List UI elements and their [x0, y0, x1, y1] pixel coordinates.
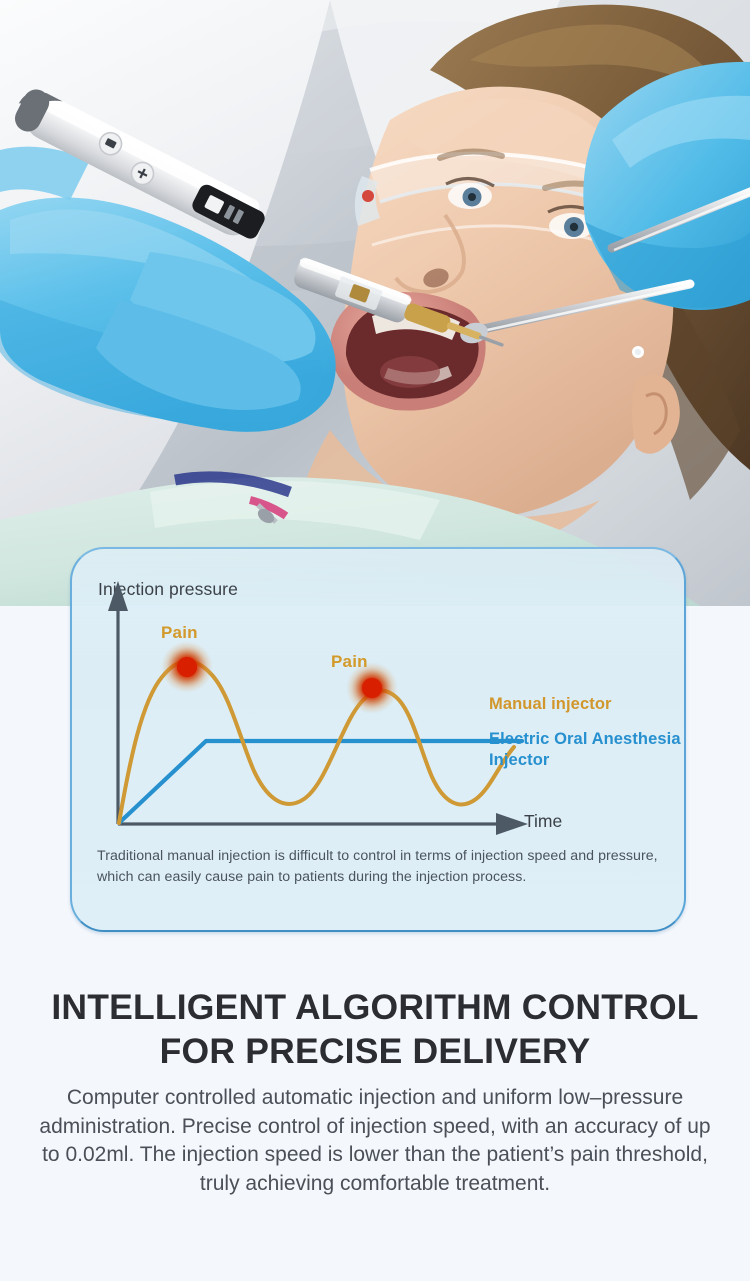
- chart-caption: Traditional manual injection is difficul…: [97, 846, 669, 887]
- pain-annotation-1: Pain: [161, 623, 198, 643]
- chart-x-axis-label: Time: [524, 811, 562, 832]
- pain-annotation-2: Pain: [331, 652, 368, 672]
- bottom-text-section: INTELLIGENT ALGORITHM CONTROL FOR PRECIS…: [0, 985, 750, 1198]
- page-headline: INTELLIGENT ALGORITHM CONTROL FOR PRECIS…: [0, 985, 750, 1073]
- page-subcopy: Computer controlled automatic injection …: [0, 1084, 750, 1198]
- legend-manual-injector: Manual injector: [489, 695, 612, 714]
- hero-photo: [0, 0, 750, 606]
- legend-electric-injector: Electric Oral Anesthesia Injector: [489, 729, 684, 771]
- injection-pressure-chart-card: Injection pressure: [70, 547, 686, 932]
